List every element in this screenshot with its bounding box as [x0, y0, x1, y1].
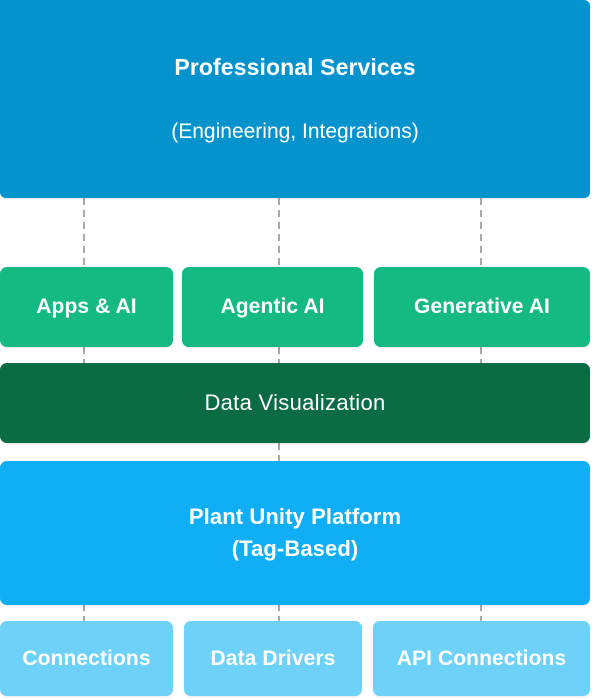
connector-dataviz-to-platform [278, 443, 280, 462]
data-drivers-box[interactable]: Data Drivers [184, 621, 362, 696]
connector-services-to-apps-ai [83, 198, 85, 268]
plant-unity-platform-title: Plant Unity Platform [189, 501, 401, 533]
connector-platform-to-connections [83, 604, 85, 622]
apps-and-ai-label: Apps & AI [36, 295, 136, 319]
api-connections-box[interactable]: API Connections [373, 621, 590, 696]
connector-apps-ai-to-dataviz [83, 347, 85, 364]
connector-services-to-agentic-ai [278, 198, 280, 268]
apps-and-ai-box[interactable]: Apps & AI [0, 267, 173, 347]
connector-generative-ai-to-dataviz [480, 347, 482, 364]
connector-services-to-generative-ai [480, 198, 482, 268]
connector-platform-to-data-drivers [278, 604, 280, 622]
generative-ai-box[interactable]: Generative AI [374, 267, 590, 347]
professional-services-subtitle: (Engineering, Integrations) [171, 119, 418, 144]
api-connections-label: API Connections [397, 647, 567, 671]
generative-ai-label: Generative AI [414, 295, 550, 319]
connections-box[interactable]: Connections [0, 621, 173, 696]
data-visualization-box[interactable]: Data Visualization [0, 363, 590, 443]
connector-platform-to-api-connections [480, 604, 482, 622]
plant-unity-platform-subtitle: (Tag-Based) [232, 533, 359, 565]
data-visualization-label: Data Visualization [204, 390, 385, 416]
connections-label: Connections [22, 647, 150, 671]
agentic-ai-label: Agentic AI [220, 295, 324, 319]
professional-services-title: Professional Services [174, 54, 415, 82]
data-drivers-label: Data Drivers [211, 647, 336, 671]
architecture-diagram: Professional Services (Engineering, Inte… [0, 0, 604, 700]
plant-unity-platform-box[interactable]: Plant Unity Platform (Tag-Based) [0, 461, 590, 605]
agentic-ai-box[interactable]: Agentic AI [182, 267, 363, 347]
professional-services-box[interactable]: Professional Services (Engineering, Inte… [0, 0, 590, 198]
connector-agentic-ai-to-dataviz [278, 347, 280, 364]
